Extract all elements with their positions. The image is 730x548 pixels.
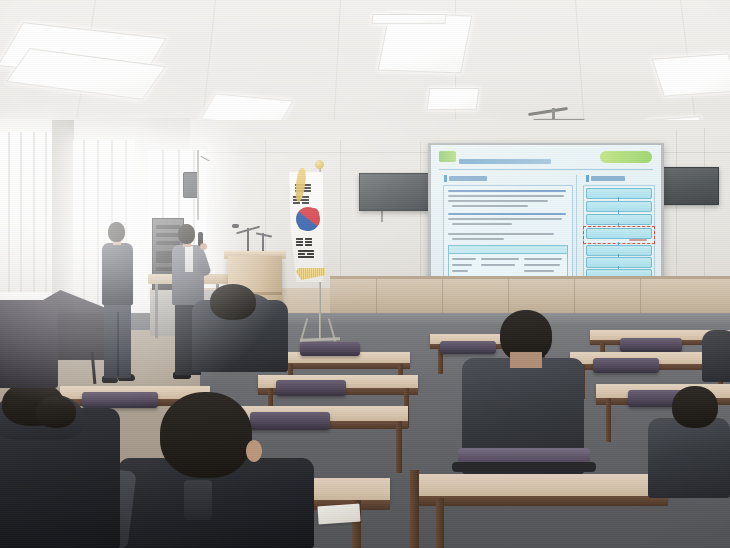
slide-title-bar <box>437 150 655 167</box>
slide-table-cell-line <box>452 264 472 266</box>
slide-text-line <box>448 233 554 235</box>
slide-text-line <box>448 213 566 215</box>
wall-display-right <box>655 167 719 205</box>
slide-text-line <box>448 218 562 220</box>
desk <box>418 474 668 500</box>
head <box>672 386 718 428</box>
chair <box>620 338 682 352</box>
slide-text-line <box>452 238 504 240</box>
slide-table-cell-line <box>481 264 515 266</box>
wall-seam <box>420 142 421 282</box>
ear <box>246 440 262 462</box>
chair <box>250 412 330 430</box>
desk-leg <box>396 421 402 473</box>
suit-jacket <box>102 243 133 305</box>
jacket <box>648 418 730 498</box>
desk-leg <box>436 498 444 548</box>
slide-title-text <box>459 159 551 164</box>
speaker-conduit <box>197 150 199 220</box>
side-table-leg <box>155 284 158 338</box>
ceiling-light-panel <box>371 14 447 24</box>
chair-frame <box>452 462 596 472</box>
chair <box>82 392 158 408</box>
slide-left-heading <box>449 176 487 181</box>
jacket <box>702 330 730 382</box>
flow-step <box>586 228 652 239</box>
slide-text-line <box>452 205 528 207</box>
hand <box>200 243 207 250</box>
projection-screen-surface <box>431 145 661 287</box>
wainscot-panel <box>330 279 730 313</box>
ceiling-light-panel <box>652 53 730 96</box>
jacket <box>0 300 58 388</box>
slide-logo-icon <box>439 151 456 162</box>
slide-table-cell-line <box>481 258 519 260</box>
chair <box>300 342 360 356</box>
wall-display-left <box>359 173 433 211</box>
flow-step <box>586 257 652 268</box>
ceiling-light-panel <box>426 88 479 110</box>
chair <box>593 358 659 373</box>
slide-text-line <box>448 195 564 197</box>
slide-ribbon-badge <box>600 151 652 163</box>
booklet-on-desk <box>317 504 360 525</box>
slide-right-heading <box>591 176 625 181</box>
slide-table-cell-line <box>452 258 476 260</box>
flow-step <box>586 245 652 256</box>
head <box>108 222 125 242</box>
slide-table-cell-line <box>452 270 468 272</box>
slide-column-divider <box>576 175 577 279</box>
slide-table-cell-line <box>524 264 560 266</box>
flow-step <box>586 214 652 225</box>
chair <box>440 341 496 354</box>
slide-text-line <box>448 190 566 192</box>
window-left <box>0 132 52 292</box>
desk-leg <box>606 398 611 442</box>
flow-highlight-note <box>629 239 647 241</box>
flow-step <box>586 201 652 212</box>
slide-table-cell-line <box>524 270 554 272</box>
head <box>178 224 195 244</box>
slide-title-underline <box>439 169 653 170</box>
jacket-flap <box>184 480 212 520</box>
wall-seam <box>340 140 341 285</box>
head <box>36 396 76 428</box>
head <box>160 392 252 478</box>
dress-shirt <box>185 246 193 272</box>
neck <box>510 352 542 368</box>
flag-finial <box>315 160 324 169</box>
flow-step <box>586 188 652 199</box>
desk-leg <box>410 470 419 548</box>
chair <box>276 380 346 396</box>
slide-table-cell-line <box>524 258 562 260</box>
head <box>210 284 256 320</box>
slide-text-line <box>452 223 512 225</box>
trouser-seam <box>117 312 119 376</box>
taeguk-symbol-icon <box>296 207 320 231</box>
photograph-seminar-room: Presentation in a seminar room Republic … <box>0 0 730 548</box>
slide-text-line <box>448 200 548 202</box>
podium-microphone-head <box>232 224 239 228</box>
